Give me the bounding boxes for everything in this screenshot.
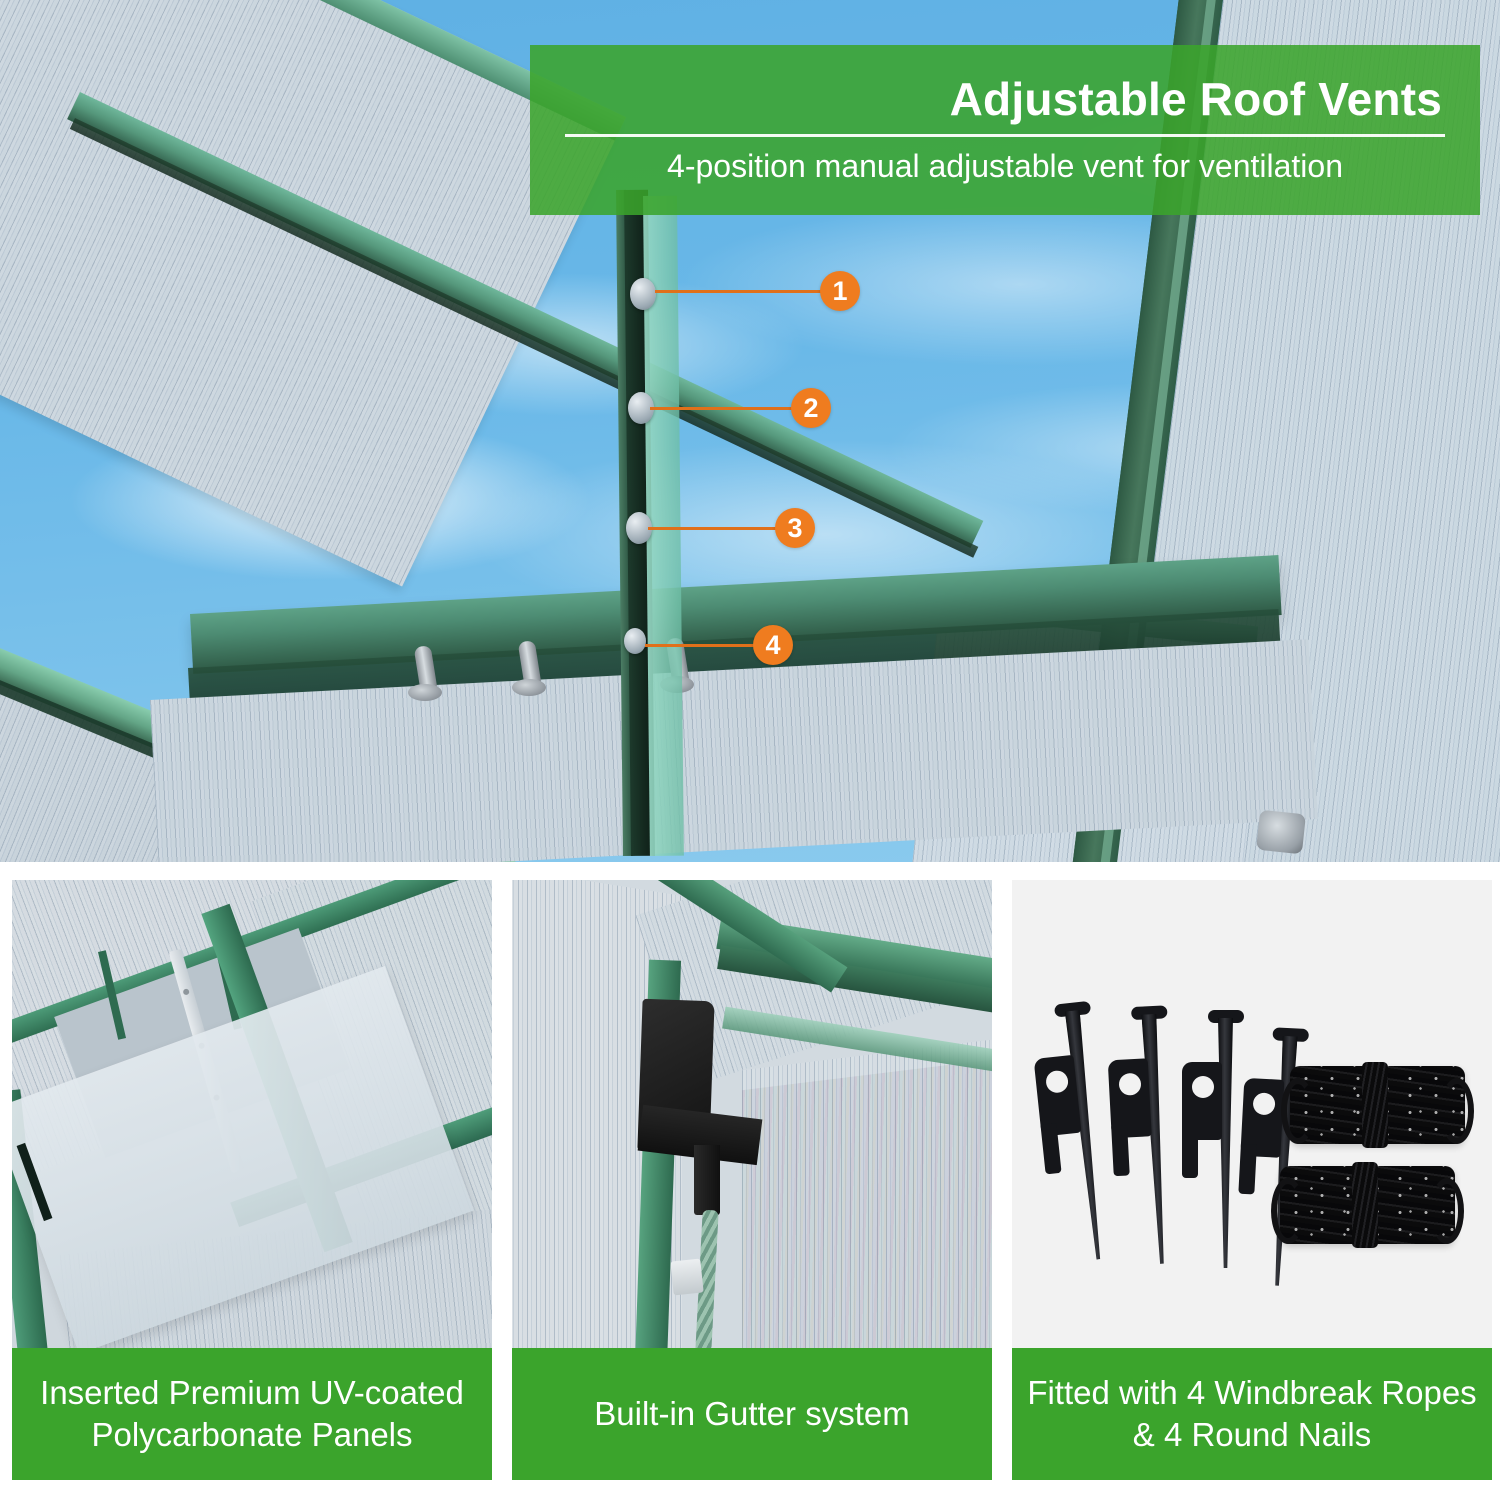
windbreak-rope-coil bbox=[1290, 1066, 1465, 1144]
feature-card-2-caption-line1: Built-in Gutter system bbox=[594, 1393, 909, 1435]
windbreak-rope-coil bbox=[1280, 1166, 1455, 1244]
callout-1: 1 bbox=[655, 271, 860, 311]
callout-3-badge: 3 bbox=[775, 508, 815, 548]
rope-clip bbox=[670, 1259, 703, 1296]
callout-4-leader-line bbox=[645, 644, 760, 647]
feature-card-row: Inserted Premium UV-coated Polycarbonate… bbox=[0, 880, 1500, 1500]
feature-card-accessories: Fitted with 4 Windbreak Ropes & 4 Round … bbox=[1012, 880, 1492, 1480]
vent-pin bbox=[408, 646, 442, 708]
roof-bracket bbox=[1256, 810, 1306, 855]
vent-pin bbox=[512, 641, 546, 703]
callout-2: 2 bbox=[650, 388, 855, 428]
hero-photo: 1 2 3 4 Adjustable Roof Vents 4-position… bbox=[0, 0, 1500, 862]
vent-notch-1 bbox=[630, 278, 656, 310]
callout-2-leader-line bbox=[650, 407, 798, 410]
callout-3: 3 bbox=[648, 508, 838, 548]
callout-4-badge: 4 bbox=[753, 625, 793, 665]
callout-1-leader-line bbox=[655, 290, 827, 293]
downspout bbox=[694, 1145, 720, 1215]
feature-card-polycarbonate: Inserted Premium UV-coated Polycarbonate… bbox=[12, 880, 492, 1480]
feature-card-gutter: Built-in Gutter system bbox=[512, 880, 992, 1480]
feature-card-3-caption-line2: & 4 Round Nails bbox=[1133, 1416, 1371, 1453]
vent-notch-4 bbox=[624, 628, 646, 654]
title-divider bbox=[565, 134, 1445, 137]
callout-4: 4 bbox=[645, 625, 825, 665]
callout-2-badge: 2 bbox=[791, 388, 831, 428]
callout-3-leader-line bbox=[648, 527, 782, 530]
feature-card-2-caption: Built-in Gutter system bbox=[512, 1348, 992, 1480]
page-subtitle: 4-position manual adjustable vent for ve… bbox=[530, 149, 1480, 184]
feature-card-1-caption-line1: Inserted Premium UV-coated bbox=[40, 1374, 464, 1411]
callout-1-badge: 1 bbox=[820, 271, 860, 311]
feature-card-1-caption: Inserted Premium UV-coated Polycarbonate… bbox=[12, 1348, 492, 1480]
feature-card-3-caption-line1: Fitted with 4 Windbreak Ropes bbox=[1027, 1374, 1476, 1411]
product-infographic: 1 2 3 4 Adjustable Roof Vents 4-position… bbox=[0, 0, 1500, 1500]
page-title: Adjustable Roof Vents bbox=[530, 76, 1480, 122]
header-banner: Adjustable Roof Vents 4-position manual … bbox=[530, 45, 1480, 215]
feature-card-3-caption: Fitted with 4 Windbreak Ropes & 4 Round … bbox=[1012, 1348, 1492, 1480]
feature-card-1-caption-line2: Polycarbonate Panels bbox=[91, 1416, 412, 1453]
